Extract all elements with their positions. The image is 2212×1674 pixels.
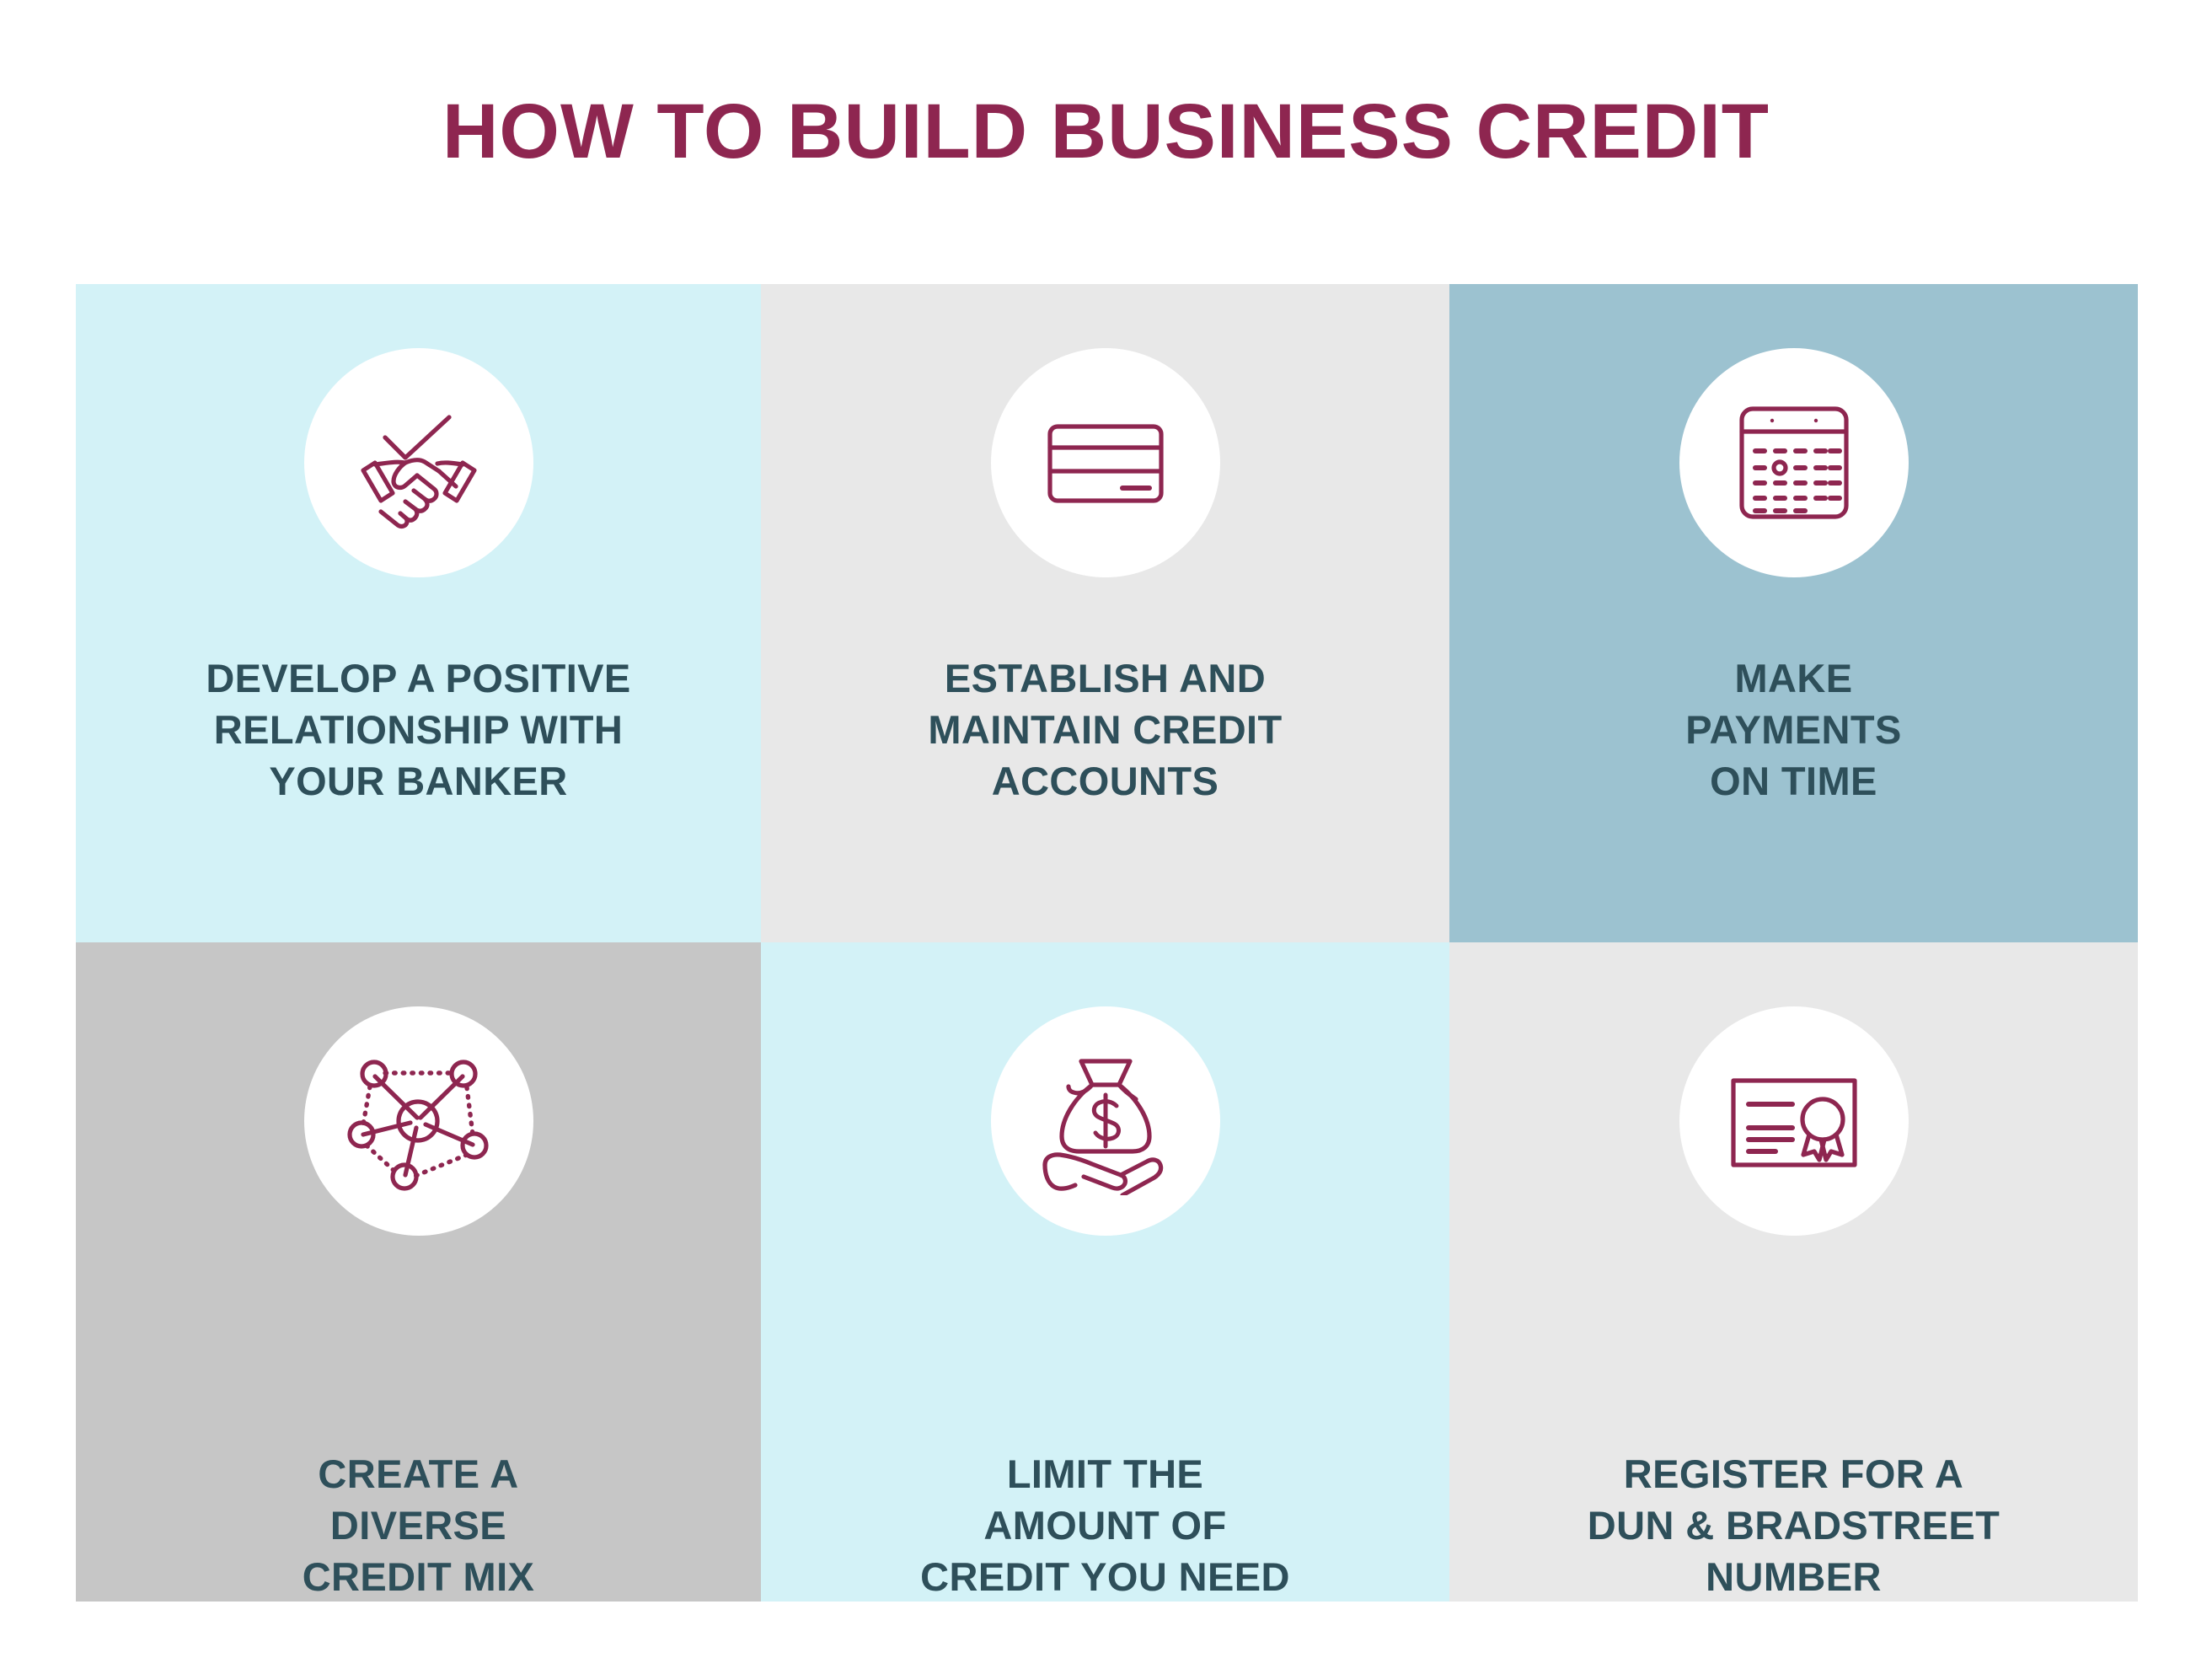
tip-card-label: ESTABLISH AND MAINTAIN CREDIT ACCOUNTS (761, 652, 1449, 807)
tip-card-label: MAKE PAYMENTS ON TIME (1449, 652, 2138, 807)
icon-badge (1679, 1006, 1909, 1236)
tips-grid: DEVELOP A POSITIVE RELATIONSHIP WITH YOU… (76, 284, 2138, 1602)
credit-card-icon (1031, 389, 1180, 537)
tip-card-5[interactable]: LIMIT THE AMOUNT OF CREDIT YOU NEED (761, 942, 1449, 1602)
tip-card-3[interactable]: MAKE PAYMENTS ON TIME (1449, 284, 2138, 942)
icon-badge (991, 1006, 1220, 1236)
tip-card-label: REGISTER FOR A DUN & BRADSTREET NUMBER (1449, 1448, 2138, 1602)
money-bag-hand-icon (1031, 1047, 1180, 1195)
tip-card-label: LIMIT THE AMOUNT OF CREDIT YOU NEED (761, 1448, 1449, 1602)
tip-card-label: DEVELOP A POSITIVE RELATIONSHIP WITH YOU… (76, 652, 761, 807)
certificate-award-icon (1720, 1047, 1868, 1195)
icon-badge (1679, 348, 1909, 577)
page-title: HOW TO BUILD BUSINESS CREDIT (0, 91, 2212, 173)
tip-card-1[interactable]: DEVELOP A POSITIVE RELATIONSHIP WITH YOU… (76, 284, 761, 942)
tip-card-4[interactable]: CREATE A DIVERSE CREDIT MIX (76, 942, 761, 1602)
handshake-check-icon (345, 389, 493, 537)
icon-badge (304, 1006, 533, 1236)
tip-card-2[interactable]: ESTABLISH AND MAINTAIN CREDIT ACCOUNTS (761, 284, 1449, 942)
tip-card-6[interactable]: REGISTER FOR A DUN & BRADSTREET NUMBER (1449, 942, 2138, 1602)
tip-card-label: CREATE A DIVERSE CREDIT MIX (76, 1448, 761, 1602)
icon-badge (304, 348, 533, 577)
icon-badge (991, 348, 1220, 577)
infographic-page: HOW TO BUILD BUSINESS CREDIT (0, 0, 2212, 1674)
network-nodes-icon (345, 1047, 493, 1195)
calendar-icon (1720, 389, 1868, 537)
